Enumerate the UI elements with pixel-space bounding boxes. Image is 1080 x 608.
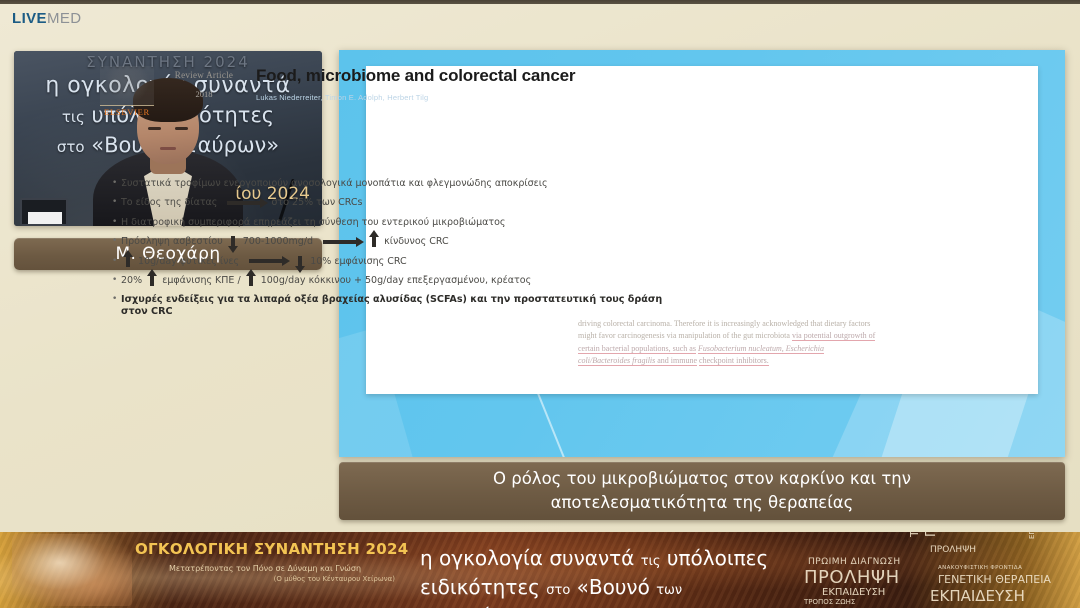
- article-year: 2018: [158, 89, 250, 99]
- bullet-prefix: 10g/day φυτικές ίνες: [138, 256, 239, 267]
- bullet-prefix: 20%: [121, 275, 142, 286]
- bullet-dot-icon: •: [112, 197, 121, 208]
- bullet-text: Πρόσληψη ασβεστίου 700-1000mg/d κίνδυνος…: [121, 236, 672, 248]
- arrow-up-icon: [150, 275, 154, 286]
- paragraph-line5-highlight: checkpoint inhibitors.: [699, 356, 769, 366]
- bullet-suffix: στο 25% των CRCs: [271, 197, 362, 208]
- bullet-text: 10g/day φυτικές ίνες 10% εμφάνισης CRC: [121, 256, 672, 268]
- bullet-suffix: 100g/day κόκκινου + 50g/day επεξεργασμέν…: [261, 275, 531, 286]
- bullet-text: Το είδος της δίατας στο 25% των CRCs: [121, 197, 672, 209]
- chiron-artwork: [12, 534, 132, 606]
- speaker-mouth: [160, 147, 176, 150]
- banner-line1-small: τις: [641, 554, 661, 569]
- bullet-prefix: Πρόσληψη ασβεστίου: [121, 236, 223, 247]
- article-type: Review Article: [158, 70, 250, 80]
- conference-tagline-secondary: (Ο μύθος του Κένταυρου Χείρωνα): [135, 575, 395, 583]
- banner-wordcloud: ΠΡΩΙΜΗ ΔΙΑΓΝΩΣΗ ΠΡΟΛΗΨΗ ΕΚΠΑΙΔΕΥΣΗ ΤΡΟΠΟ…: [802, 535, 1052, 605]
- bullet-text: Η διατροφική συμπεριφορά επηρεάζει τη σύ…: [121, 217, 672, 229]
- video-backdrop-line3-small: στο: [57, 138, 85, 156]
- elsevier-wordmark: ELSEVIER: [96, 107, 158, 117]
- conference-tagline: Μετατρέποντας τον Πόνο σε Δύναμη και Γνώ…: [135, 564, 395, 573]
- elsevier-logo: ELSEVIER: [96, 66, 158, 117]
- bullet-dot-icon: •: [112, 275, 121, 286]
- presentation-title-line2: αποτελεσματικότητα της θεραπείας: [493, 491, 911, 515]
- bullet-suffix: κίνδυνος CRC: [384, 236, 449, 247]
- elsevier-tree-icon: [100, 66, 154, 106]
- wordcloud-item: ΠΟΣ ΖΩΗΣ: [924, 532, 939, 537]
- paragraph-line1: driving colorectal carcinoma. Therefore …: [578, 319, 822, 328]
- conference-title: ΟΓΚΟΛΟΓΙΚΗ ΣΥΝΑΝΤΗΣΗ 2024: [135, 540, 395, 558]
- bullet-item: • Η διατροφική συμπεριφορά επηρεάζει τη …: [112, 217, 672, 229]
- presentation-title-line1: Ο ρόλος του μικροβιώματος στον καρκίνο κ…: [493, 467, 911, 491]
- bullet-item: • 10g/day φυτικές ίνες 10% εμφάνισης CRC: [112, 256, 672, 268]
- wordcloud-item: ΕΚΠΑΙΔΕΥΣΗ: [930, 587, 1025, 605]
- banner-line2-c: Κενταύρων»: [420, 604, 545, 608]
- bullet-text: Συστατικά τροφίμων ενεργοποιούν ανοσολογ…: [121, 178, 672, 190]
- wordcloud-item: ΤΙΚΗ ΦΡΟΝΤΙΔΑ: [908, 532, 921, 537]
- laptop-prop: [20, 198, 68, 226]
- bullet-dot-icon: •: [112, 236, 121, 247]
- bullet-item: • Ισχυρές ενδείξεις για τα λιπαρά οξέα β…: [112, 294, 672, 318]
- arrow-down-icon: [231, 236, 235, 247]
- banner-left-block: ΟΓΚΟΛΟΓΙΚΗ ΣΥΝΑΝΤΗΣΗ 2024 Μετατρέποντας …: [135, 540, 395, 583]
- arrow-up-icon: [249, 275, 253, 286]
- banner-line2-b: «Βουνό: [570, 575, 656, 599]
- arrow-up-icon: [372, 236, 376, 247]
- article-title: Food, microbiome and colorectal cancer: [256, 66, 656, 86]
- journal-title-block: Food, microbiome and colorectal cancer L…: [250, 66, 656, 102]
- wordcloud-item: ΕΚΠΑΙΔΕΥΣΗ: [822, 587, 885, 598]
- slide-paragraph: driving colorectal carcinoma. Therefore …: [578, 318, 878, 368]
- wordcloud-item: ΑΝΑΚΟΥΦΙΣΤΙΚΗ ΦΡΟΝΤΙΔΑ: [938, 565, 1022, 571]
- wordcloud-item: ΠΡΟΛΗΨΗ: [930, 545, 976, 555]
- bullet-mid: εμφάνισης ΚΠΕ /: [162, 275, 240, 286]
- wordcloud-item: ΕΠΙΛΟΓΗΣ: [1028, 532, 1036, 539]
- bullet-dot-icon: •: [112, 178, 121, 189]
- banner-line1-b: υπόλοιπες: [661, 546, 769, 570]
- logo-live-text: LIVE: [12, 10, 47, 27]
- banner-line2-small: στο: [546, 583, 570, 598]
- bullet-text: 20% εμφάνισης ΚΠΕ / 100g/day κόκκινου + …: [121, 275, 672, 287]
- speaker-eye-left: [148, 127, 161, 130]
- bullet-item: • Πρόσληψη ασβεστίου 700-1000mg/d κίνδυν…: [112, 236, 672, 248]
- wordcloud-item: ΠΡΩΙΜΗ ΔΙΑΓΝΩΣΗ: [808, 557, 901, 567]
- arrow-right-icon: [323, 240, 357, 244]
- banner-line2-small2: των: [656, 583, 682, 598]
- bullet-mid: 700-1000mg/d: [243, 236, 313, 247]
- bullet-prefix: Το είδος της δίατας: [121, 197, 217, 208]
- arrow-right-icon: [249, 259, 283, 263]
- livemed-logo[interactable]: LIVEMED: [12, 10, 82, 27]
- journal-meta: Review Article 2018: [158, 66, 250, 99]
- arrow-right-icon: [227, 201, 261, 205]
- presentation-title-bar: Ο ρόλος του μικροβιώματος στον καρκίνο κ…: [339, 462, 1065, 520]
- bullet-dot-icon: •: [112, 294, 121, 305]
- logo-med-text: MED: [47, 10, 82, 27]
- slide-bullet-list: • Συστατικά τροφίμων ενεργοποιούν ανοσολ…: [112, 178, 672, 326]
- bullet-text: Ισχυρές ενδείξεις για τα λιπαρά οξέα βρα…: [121, 294, 672, 318]
- banner-main-text: η ογκολογία συναντά τις υπόλοιπες ειδικό…: [420, 544, 800, 608]
- paragraph-line4-highlight: and immune: [655, 356, 697, 366]
- arrow-up-icon: [126, 256, 130, 267]
- bullet-dot-icon: •: [112, 256, 121, 267]
- bullet-item: • Το είδος της δίατας στο 25% των CRCs: [112, 197, 672, 209]
- wordcloud-item: ΠΡΟΛΗΨΗ: [804, 567, 900, 588]
- wordcloud-item: ΤΡΟΠΟΣ ΖΩΗΣ: [804, 598, 855, 606]
- video-backdrop-line2-small: τις: [62, 108, 85, 126]
- bullet-dot-icon: •: [112, 217, 121, 228]
- top-strip: [0, 0, 1080, 4]
- conference-banner: ΟΓΚΟΛΟΓΙΚΗ ΣΥΝΑΝΤΗΣΗ 2024 Μετατρέποντας …: [0, 532, 1080, 608]
- journal-header: ELSEVIER Review Article 2018 Food, micro…: [96, 66, 656, 117]
- presentation-title: Ο ρόλος του μικροβιώματος στον καρκίνο κ…: [493, 467, 911, 515]
- banner-main-line1: η ογκολογία συναντά τις υπόλοιπες: [420, 544, 800, 573]
- article-authors: Lukas Niederreiter, Timon E. Adolph, Her…: [256, 93, 656, 102]
- banner-line1-a: η ογκολογία συναντά: [420, 546, 641, 570]
- bullet-item: • 20% εμφάνισης ΚΠΕ / 100g/day κόκκινου …: [112, 275, 672, 287]
- banner-main-line2: ειδικότητες στο «Βουνό των Κενταύρων»: [420, 573, 800, 608]
- wordcloud-item: ΓΕΝΕΤΙΚΗ ΘΕΡΑΠΕΙΑ: [938, 573, 1051, 586]
- arrow-down-icon: [298, 256, 302, 267]
- speaker-eye-right: [175, 127, 188, 130]
- bullet-suffix: 10% εμφάνισης CRC: [310, 256, 406, 267]
- paragraph-line3: microbiota: [755, 331, 792, 340]
- bullet-item: • Συστατικά τροφίμων ενεργοποιούν ανοσολ…: [112, 178, 672, 190]
- banner-line2-a: ειδικότητες: [420, 575, 546, 599]
